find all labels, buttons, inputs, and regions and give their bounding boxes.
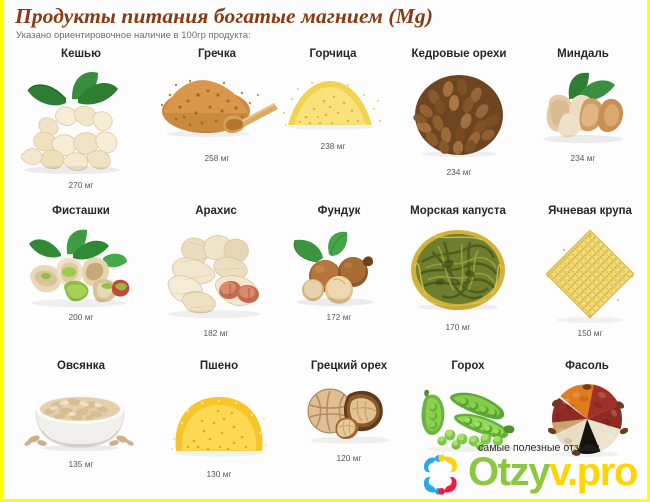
product-name: Горчица	[278, 48, 388, 61]
product-name: Ячневая крупа	[531, 205, 649, 218]
product-name: Арахис	[149, 205, 283, 218]
logo-text-green: Otzy	[468, 450, 549, 494]
product-name: Горох	[409, 360, 527, 373]
site-watermark[interactable]: самые полезные отзывы	[416, 440, 648, 498]
product-name: Фисташки	[13, 205, 149, 218]
product-cell-walnut: Грецкий орех	[281, 360, 417, 463]
cashew-nuts-icon	[16, 69, 146, 174]
otzyv-logo-text: Otzyv.pro	[468, 452, 637, 492]
pistachios-with-leaves-icon	[17, 228, 145, 308]
product-name: Морская капуста	[383, 205, 533, 218]
product-value: 130 мг	[155, 469, 283, 479]
product-value: 234 мг	[385, 167, 533, 177]
product-cell-cashew: Кешью	[11, 48, 151, 190]
product-value: 238 мг	[278, 141, 388, 151]
page-subtitle: Указано ориентировочное наличие в 100гр …	[16, 30, 251, 41]
peanuts-in-shell-icon	[154, 228, 278, 320]
millet-pile-icon	[164, 383, 274, 461]
product-name: Кедровые орехи	[385, 48, 533, 61]
product-value: 258 мг	[151, 153, 283, 163]
product-name: Грецкий орех	[281, 360, 417, 373]
product-cell-buckwheat: Гречка	[151, 48, 283, 163]
product-value: 120 мг	[281, 453, 417, 463]
product-cell-pine-nuts: Кедровые орехи	[385, 48, 533, 177]
product-cell-mustard: Горчица	[278, 48, 388, 151]
buckwheat-pile-with-spoon-icon	[154, 73, 280, 143]
product-name: Фасоль	[527, 360, 647, 373]
product-value: 135 мг	[15, 459, 147, 469]
product-cell-peanut: Арахис	[149, 205, 283, 338]
pine-nuts-pile-icon	[404, 69, 514, 157]
product-value: 170 мг	[383, 322, 533, 332]
product-name: Овсянка	[15, 360, 147, 373]
product-name: Кешью	[11, 48, 151, 61]
page-title: Продукты питания богатые магнием (Mg)	[15, 4, 433, 29]
hazelnuts-with-leaves-icon	[287, 228, 391, 308]
product-value: 182 мг	[149, 328, 283, 338]
page-header: Продукты питания богатые магнием (Mg) Ук…	[3, 0, 647, 48]
product-cell-millet: Пшено	[155, 360, 283, 479]
product-value: 150 мг	[531, 328, 649, 338]
almonds-with-leaves-icon	[527, 69, 639, 147]
product-cell-hazelnut: Фундук	[285, 205, 393, 322]
product-value: 200 мг	[13, 312, 149, 322]
product-cell-barley: Ячневая крупа	[531, 205, 649, 338]
oatmeal-bowl-icon	[18, 383, 144, 451]
product-cell-almond: Миндаль	[525, 48, 641, 163]
product-cell-oatmeal: Овсянка	[15, 360, 147, 469]
product-value: 234 мг	[525, 153, 641, 163]
product-grid: Кешью	[3, 48, 647, 502]
mustard-seed-pile-icon	[280, 73, 386, 135]
logo-text-yellow: v.pro	[549, 450, 637, 494]
product-name: Пшено	[155, 360, 283, 373]
product-value: 270 мг	[11, 180, 151, 190]
product-name: Миндаль	[525, 48, 641, 61]
product-value: 172 мг	[285, 312, 393, 322]
otzyv-logo-icon	[418, 454, 462, 496]
product-cell-seaweed: Морская капуста	[383, 205, 533, 332]
infographic-page: Продукты питания богатые магнием (Mg) Ук…	[0, 0, 650, 502]
product-name: Фундук	[285, 205, 393, 218]
walnuts-cracked-icon	[296, 383, 402, 445]
product-row: Кешью	[3, 48, 647, 205]
product-cell-pistachio: Фисташки	[13, 205, 149, 322]
seaweed-salad-icon	[404, 226, 512, 312]
product-row: Фисташки	[3, 205, 647, 360]
product-name: Гречка	[151, 48, 283, 61]
barley-groats-square-icon	[534, 228, 646, 324]
